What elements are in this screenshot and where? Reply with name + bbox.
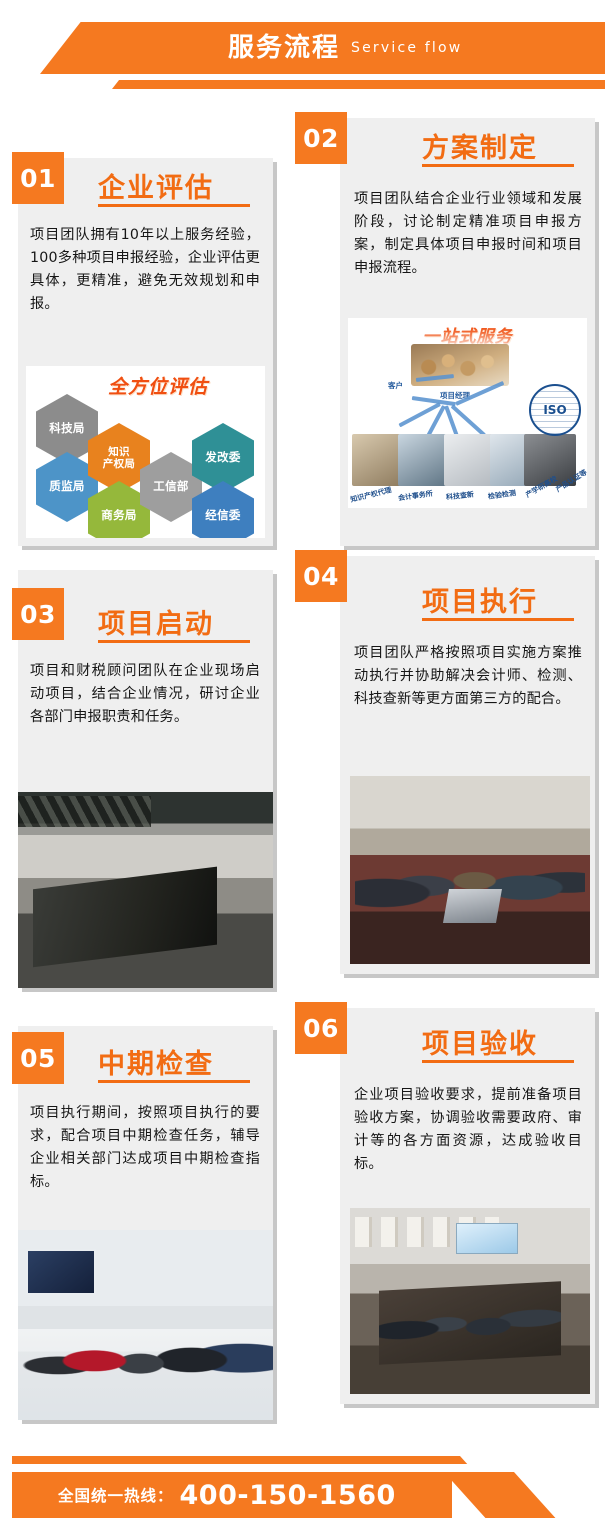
card-title-06: 项目验收 — [422, 1022, 538, 1061]
card-title-rule-04 — [422, 618, 574, 621]
seal-text: ISO — [543, 403, 566, 417]
card-body-02: 项目团队结合企业行业领域和发展阶段，讨论制定精准项目申报方案，制定具体项目申报时… — [354, 188, 582, 280]
footer-accent-stripe — [12, 1456, 432, 1464]
one-stop-service-diagram: 一站式服务 客户 项目经理 ISO 知识产权代理 会计事务所 科技查新 检验检测 — [348, 318, 587, 508]
photo-team-working-with-laptops — [350, 776, 590, 964]
photo-content — [350, 776, 590, 964]
partner-label-0: 知识产权代理 — [349, 485, 392, 505]
step-number-badge-04: 04 — [295, 550, 347, 602]
partner-thumb-sci-search — [444, 434, 496, 486]
step-number-badge-03: 03 — [12, 588, 64, 640]
partner-thumb-ip-agency — [352, 434, 404, 486]
hexagon-chart-title: 全方位评估 — [108, 372, 208, 399]
card-title-rule-01 — [98, 204, 250, 207]
step-card-05: 05 中期检查 项目执行期间，按照项目执行的要求，配合项目中期检查任务，辅导企业… — [18, 1026, 273, 1420]
card-body-04: 项目团队严格按照项目实施方案推动执行并协助解决会计师、检测、科技查新等更方面第三… — [354, 642, 582, 711]
hex-label: 知识产权局 — [103, 446, 135, 470]
card-title-rule-05 — [98, 1080, 250, 1083]
step-number-badge-01: 01 — [12, 152, 64, 204]
infographic-page: 服务流程 Service flow 01 企业评估 项目团队拥有10年以上服务经… — [0, 0, 605, 1538]
hex-label: 工信部 — [153, 480, 188, 493]
footer-accent-slant — [424, 1456, 467, 1464]
card-title-04: 项目执行 — [422, 580, 538, 619]
step-number-badge-06: 06 — [295, 1002, 347, 1054]
card-title-rule-03 — [98, 640, 250, 643]
step-number-badge-02: 02 — [295, 112, 347, 164]
hotline-label: 全国统一热线： — [58, 1484, 174, 1506]
card-title-05: 中期检查 — [98, 1042, 214, 1081]
card-title-03: 项目启动 — [98, 602, 214, 641]
iso-certification-seal: ISO — [529, 384, 581, 436]
service-label-client: 客户 — [388, 380, 403, 391]
hexagon-evaluation-chart: 全方位评估 科技局 质监局 知识产权局 商务局 工信部 发改委 经信委 — [26, 366, 265, 538]
hotline-number[interactable]: 400-150-1560 — [180, 1480, 396, 1511]
card-title-01: 企业评估 — [98, 166, 214, 205]
card-title-rule-06 — [422, 1060, 574, 1063]
partner-label-1: 会计事务所 — [397, 489, 433, 504]
hex-label: 经信委 — [205, 509, 240, 522]
partner-thumb-accounting — [398, 434, 450, 486]
step-card-02: 02 方案制定 项目团队结合企业行业领域和发展阶段，讨论制定精准项目申报方案，制… — [340, 118, 595, 546]
partner-label-3: 检验检测 — [487, 488, 516, 502]
card-body-05: 项目执行期间，按照项目执行的要求，配合项目中期检查任务，辅导企业相关部门达成项目… — [30, 1102, 260, 1194]
hex-label: 发改委 — [205, 451, 240, 464]
card-body-01: 项目团队拥有10年以上服务经验，100多种项目申报经验，企业评估更具体，更精准，… — [30, 224, 260, 316]
hex-label: 科技局 — [49, 422, 84, 435]
step-card-03: 03 项目启动 项目和财税顾问团队在企业现场启动项目，结合企业情况，研讨企业各部… — [18, 570, 273, 988]
header-accent-stripe — [168, 80, 605, 89]
card-title-02: 方案制定 — [422, 126, 538, 165]
hex-label: 质监局 — [49, 480, 84, 493]
page-header: 服务流程 Service flow — [0, 0, 605, 110]
page-title: 服务流程 — [228, 35, 340, 61]
partner-label-2: 科技查新 — [446, 490, 475, 503]
photo-content — [18, 1230, 273, 1420]
hex-label: 商务局 — [101, 509, 136, 522]
photo-acceptance-review-meeting — [350, 1208, 590, 1394]
header-title-group: 服务流程 Service flow — [150, 22, 605, 74]
card-body-06: 企业项目验收要求，提前准备项目验收方案，协调验收需要政府、审计等的各方面资源，达… — [354, 1084, 582, 1176]
step-card-06: 06 项目验收 企业项目验收要求，提前准备项目验收方案，协调验收需要政府、审计等… — [340, 1008, 595, 1404]
step-card-01: 01 企业评估 项目团队拥有10年以上服务经验，100多种项目申报经验，企业评估… — [18, 158, 273, 546]
card-title-rule-02 — [422, 164, 574, 167]
photo-conference-room-kickoff-meeting — [18, 792, 273, 988]
photo-showroom-site-inspection — [18, 1230, 273, 1420]
card-body-03: 项目和财税顾问团队在企业现场启动项目，结合企业情况，研讨企业各部门申报职责和任务… — [30, 660, 260, 729]
step-number-badge-05: 05 — [12, 1032, 64, 1084]
page-subtitle: Service flow — [351, 41, 462, 56]
photo-content — [18, 792, 273, 988]
footer-bar-slant — [444, 1472, 555, 1518]
step-card-04: 04 项目执行 项目团队严格按照项目实施方案推动执行并协助解决会计师、检测、科技… — [340, 556, 595, 974]
hotline-group: 全国统一热线： 400-150-1560 — [58, 1472, 396, 1518]
page-footer: 全国统一热线： 400-150-1560 — [0, 1420, 605, 1538]
projector-screen — [456, 1223, 518, 1255]
